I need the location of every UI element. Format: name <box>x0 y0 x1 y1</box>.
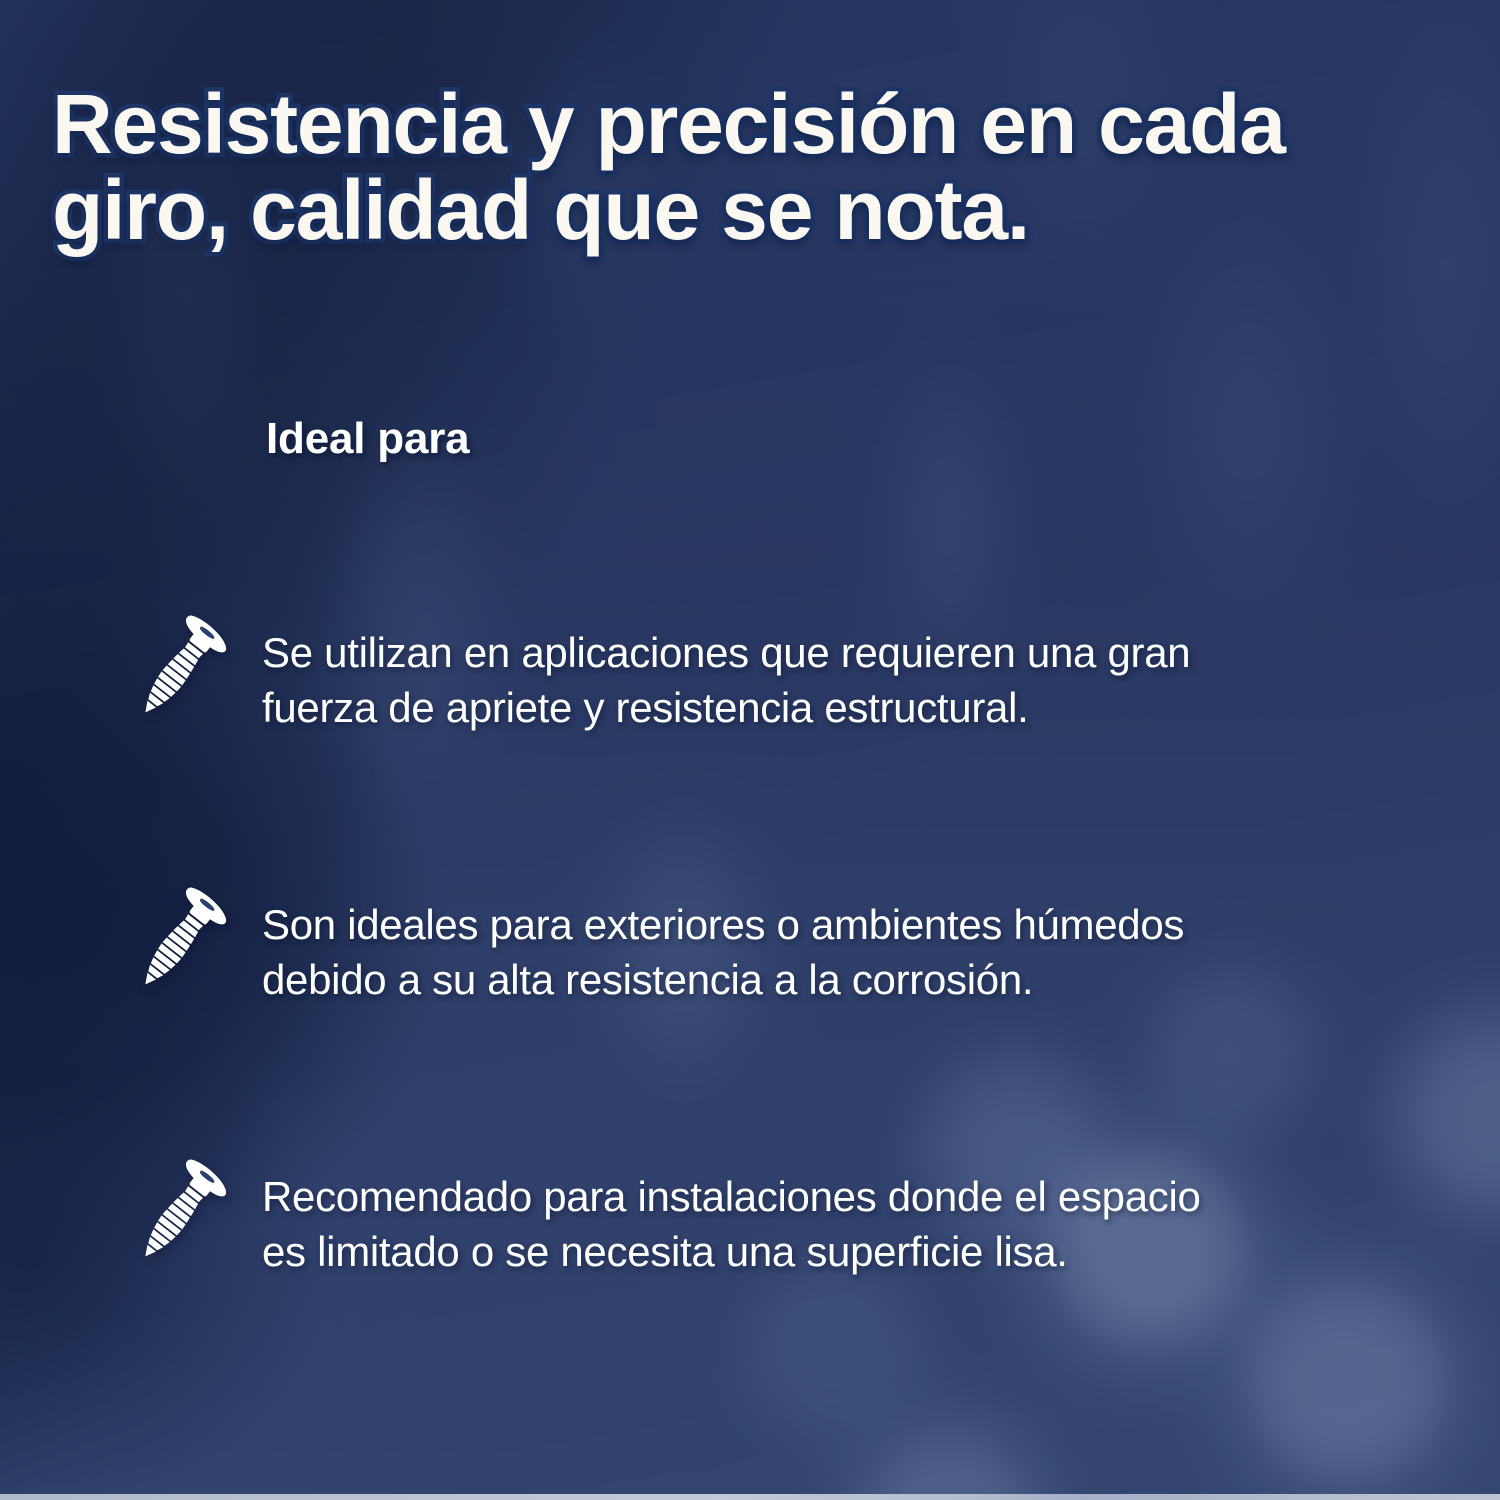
list-item-label: Se utilizan en aplicaciones que requiere… <box>262 626 1442 735</box>
list-item: Recomendado para instalaciones donde el … <box>0 1144 1500 1416</box>
promo-poster: Resistencia y precisión en cada giro, ca… <box>0 0 1500 1500</box>
poster-content: Resistencia y precisión en cada giro, ca… <box>0 0 1500 1500</box>
screw-icon <box>118 1150 242 1274</box>
screw-icon <box>118 606 242 730</box>
list-item: Se utilizan en aplicaciones que requiere… <box>0 600 1500 872</box>
screw-icon <box>118 878 242 1002</box>
benefits-list: Se utilizan en aplicaciones que requiere… <box>0 600 1500 1416</box>
list-item-label: Son ideales para exteriores o ambientes … <box>262 898 1442 1007</box>
page-title: Resistencia y precisión en cada giro, ca… <box>52 82 1462 253</box>
section-label-ideal-para: Ideal para <box>266 414 469 464</box>
list-item-label: Recomendado para instalaciones donde el … <box>262 1170 1442 1279</box>
list-item: Son ideales para exteriores o ambientes … <box>0 872 1500 1144</box>
